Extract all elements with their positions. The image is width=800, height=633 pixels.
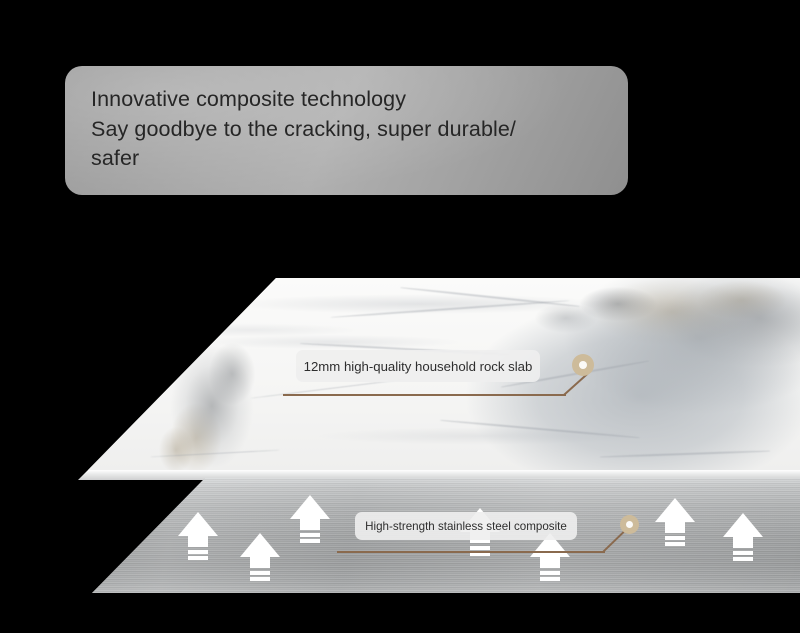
headline-callout-bubble: Innovative composite technology Say good… — [65, 66, 628, 195]
stainless-steel-callout-marker — [620, 515, 639, 534]
product-feature-graphic: Innovative composite technology Say good… — [0, 0, 800, 633]
headline-line-3: safer — [91, 144, 602, 174]
marble-vein — [600, 450, 770, 457]
marble-vein — [150, 450, 280, 458]
up-arrow-icon — [723, 513, 763, 561]
rock-slab-callout-label: 12mm high-quality household rock slab — [296, 350, 540, 382]
up-arrow-icon — [240, 533, 280, 581]
stainless-steel-callout-label: High-strength stainless steel composite — [355, 512, 577, 540]
rock-slab-callout-marker — [572, 354, 594, 376]
marble-vein — [330, 300, 570, 319]
up-arrow-icon — [178, 512, 218, 560]
up-arrow-icon — [530, 533, 570, 581]
up-arrow-icon — [290, 495, 330, 543]
headline-line-2: Say goodbye to the cracking, super durab… — [91, 115, 602, 145]
up-arrow-icon — [655, 498, 695, 546]
marble-vein — [440, 419, 639, 438]
headline-line-1: Innovative composite technology — [91, 85, 602, 115]
marble-vein — [400, 287, 579, 307]
